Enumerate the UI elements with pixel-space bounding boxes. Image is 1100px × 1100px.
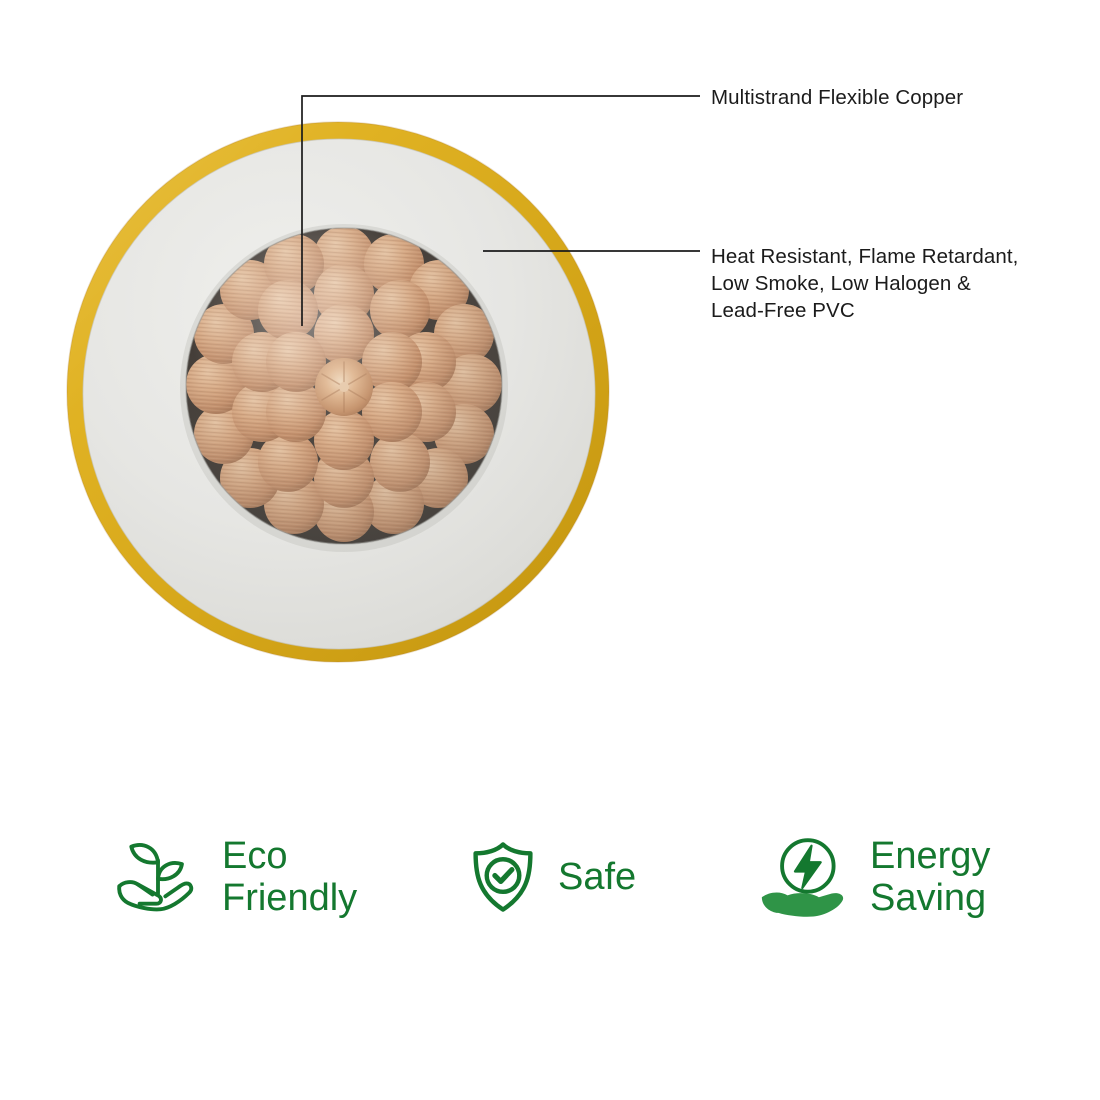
shield-check-icon — [466, 840, 540, 914]
feature-energy-saving: Energy Saving — [760, 822, 990, 932]
feature-label-eco-friendly: Eco Friendly — [222, 835, 357, 919]
hand-holding-lightning-icon — [760, 831, 852, 923]
feature-badges-row: Eco Friendly Safe Energy Saving — [0, 812, 1100, 942]
cable-cross-section-diagram — [0, 0, 700, 760]
hand-holding-sprout-icon — [112, 831, 204, 923]
callout-label-insulation: Heat Resistant, Flame Retardant, Low Smo… — [711, 243, 1018, 324]
feature-safe: Safe — [466, 822, 636, 932]
feature-eco-friendly: Eco Friendly — [112, 822, 357, 932]
callout-label-conductor: Multistrand Flexible Copper — [711, 84, 963, 111]
feature-label-energy-saving: Energy Saving — [870, 835, 990, 919]
cable-conductor-bundle — [180, 224, 508, 552]
feature-label-safe: Safe — [558, 856, 636, 898]
